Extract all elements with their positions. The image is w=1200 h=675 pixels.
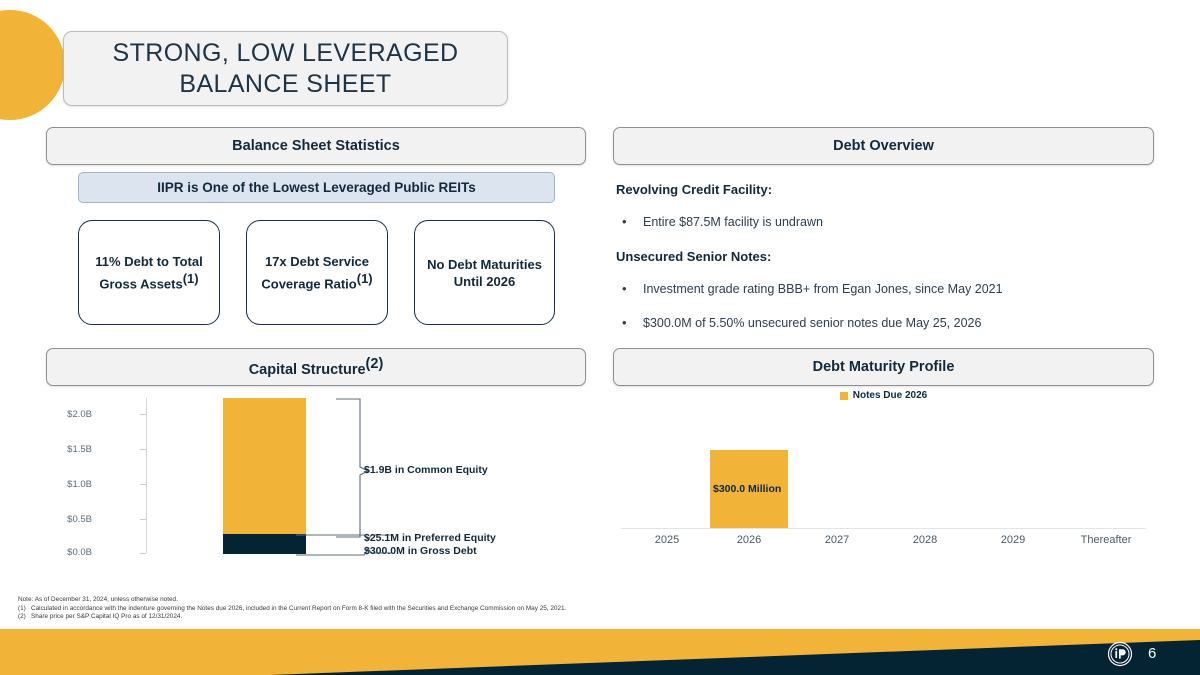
legend-label: Notes Due 2026 [853, 390, 927, 401]
footer-brand-name: Innovative Industrial Properties [50, 13, 255, 29]
bar-label-2026: $300.0 Million [713, 483, 781, 495]
callout-common-equity: $1.9B in Common Equity [364, 464, 488, 476]
page-title: STRONG, LOW LEVERAGED BALANCE SHEET [63, 31, 508, 106]
y-axis-tick [140, 553, 146, 554]
page-number: 6 [1148, 645, 1156, 662]
debt-maturity-profile-title: Debt Maturity Profile [813, 359, 955, 375]
footnote-marker: (1) [357, 271, 373, 286]
stat-card-text: No Debt Maturities Until 2026 [423, 256, 546, 290]
y-axis-tick [140, 414, 146, 415]
chart-y-axis-line [146, 398, 147, 553]
y-axis-tick [140, 449, 146, 450]
capital-structure-title: Capital Structure(2) [249, 356, 384, 378]
footnote-note: Note: As of December 31, 2024, unless ot… [18, 596, 1178, 605]
footnotes: Note: As of December 31, 2024, unless ot… [18, 596, 1178, 622]
capital-structure-header: Capital Structure(2) [46, 348, 586, 386]
debt-overview-bullet: Investment grade rating BBB+ from Egan J… [616, 282, 1156, 297]
x-axis-label: 2029 [973, 534, 1053, 546]
balance-sheet-statistics-title: Balance Sheet Statistics [232, 138, 400, 154]
page-title-line1: STRONG, LOW LEVERAGED [113, 39, 459, 67]
balance-sheet-statistics-header: Balance Sheet Statistics [46, 127, 586, 165]
y-axis-label: $2.0B [46, 409, 92, 420]
stat-card-no-maturities: No Debt Maturities Until 2026 [414, 220, 555, 325]
lowest-leveraged-banner-text: IIPR is One of the Lowest Leveraged Publ… [157, 180, 476, 195]
y-axis-label: $0.0B [46, 547, 92, 558]
stat-card-debt-service-coverage: 17x Debt Service Coverage Ratio(1) [246, 220, 388, 325]
debt-overview-header: Debt Overview [613, 127, 1154, 165]
page-title-text: STRONG, LOW LEVERAGED BALANCE SHEET [113, 38, 459, 100]
legend-swatch-icon [840, 392, 848, 400]
y-axis-label: $1.5B [46, 444, 92, 455]
stat-card-debt-to-assets: 11% Debt to Total Gross Assets(1) [78, 220, 220, 325]
footer-bar [0, 629, 1200, 675]
iip-logo-icon [1107, 641, 1133, 667]
y-axis-tick [140, 484, 146, 485]
x-axis-label: 2026 [709, 534, 789, 546]
debt-overview-bullet: Entire $87.5M facility is undrawn [616, 215, 1156, 230]
x-axis-label: 2027 [797, 534, 877, 546]
x-axis-label: 2028 [885, 534, 965, 546]
chart-legend: Notes Due 2026 [613, 390, 1154, 401]
unsecured-senior-notes-heading: Unsecured Senior Notes: [616, 249, 1156, 264]
debt-maturity-profile-header: Debt Maturity Profile [613, 348, 1154, 386]
callout-gross-debt: $300.0M in Gross Debt [364, 545, 477, 557]
y-axis-tick [140, 519, 146, 520]
x-axis-label: Thereafter [1061, 534, 1151, 546]
capital-structure-chart: $2.0B $1.5B $1.0B $0.5B $0.0B $1.9B in C… [46, 395, 586, 565]
slide: STRONG, LOW LEVERAGED BALANCE SHEET Bala… [0, 0, 1200, 675]
stat-card-text: 11% Debt to Total Gross Assets(1) [87, 253, 211, 292]
stat-card-text: 17x Debt Service Coverage Ratio(1) [255, 253, 379, 292]
footnote-1: (1)Calculated in accordance with the ind… [18, 605, 1178, 614]
footnote-marker: (2) [366, 356, 384, 372]
debt-overview-body: Revolving Credit Facility: Entire $87.5M… [616, 182, 1156, 350]
y-axis-label: $1.0B [46, 479, 92, 490]
bar-segment-common-equity [223, 398, 306, 534]
debt-overview-title: Debt Overview [833, 138, 934, 154]
x-axis-label: 2025 [627, 534, 707, 546]
lowest-leveraged-banner: IIPR is One of the Lowest Leveraged Publ… [78, 172, 555, 203]
y-axis-label: $0.5B [46, 514, 92, 525]
chart-baseline [621, 528, 1146, 529]
footnote-marker: (1) [183, 271, 199, 286]
footnote-2: (2)Share price per S&P Capital IQ Pro as… [18, 613, 1178, 622]
debt-overview-bullet: $300.0M of 5.50% unsecured senior notes … [616, 316, 1156, 331]
callout-preferred-equity: $25.1M in Preferred Equity [364, 532, 496, 544]
revolving-credit-facility-heading: Revolving Credit Facility: [616, 182, 1156, 197]
page-title-line2: BALANCE SHEET [179, 70, 391, 98]
debt-maturity-chart: Notes Due 2026 $300.0 Million 2025 2026 … [613, 390, 1154, 560]
